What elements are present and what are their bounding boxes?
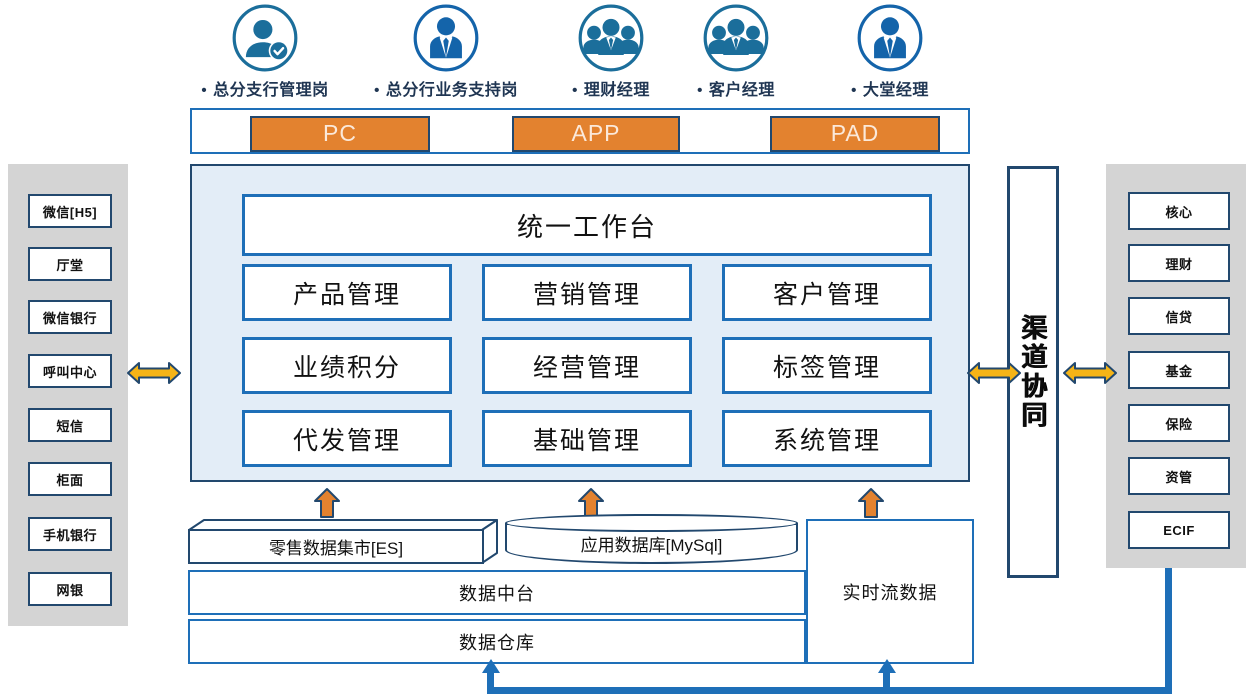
- panel-to-synergy-arrow-icon: [966, 358, 1022, 388]
- person-verified-icon: [231, 4, 299, 72]
- system-wealth[interactable]: 理财: [1128, 244, 1230, 282]
- bullet-icon: •: [374, 82, 380, 99]
- module-unified-workbench[interactable]: 统一工作台: [242, 194, 932, 256]
- module-marketing-management[interactable]: 营销管理: [482, 264, 692, 321]
- channel-sms[interactable]: 短信: [28, 408, 112, 442]
- role-item-0: •总分支行管理岗: [190, 4, 340, 100]
- bullet-icon: •: [851, 82, 857, 99]
- feedback-arrow-to-stream-icon: [876, 659, 898, 679]
- role-label-3: •客户经理: [661, 76, 811, 100]
- channel-mobile-bank[interactable]: 手机银行: [28, 517, 112, 551]
- device-button-app[interactable]: APP: [512, 116, 680, 152]
- module-tag-management[interactable]: 标签管理: [722, 337, 932, 394]
- data-mart-label: 零售数据集市[ES]: [188, 529, 484, 564]
- channel-online-bank[interactable]: 网银: [28, 572, 112, 606]
- bullet-icon: •: [201, 82, 207, 99]
- cylinder-top-ellipse: [505, 514, 798, 532]
- data-warehouse-row[interactable]: 数据仓库: [188, 619, 806, 664]
- left-bidirectional-arrow-icon: [126, 358, 182, 388]
- synergy-to-systems-arrow-icon: [1062, 358, 1118, 388]
- role-item-4: •大堂经理: [815, 4, 965, 100]
- data-midplatform-row[interactable]: 数据中台: [188, 570, 806, 615]
- module-customer-management[interactable]: 客户管理: [722, 264, 932, 321]
- core-systems-panel: 核心 理财 信贷 基金 保险 资管 ECIF: [1106, 164, 1246, 568]
- module-performance-points[interactable]: 业绩积分: [242, 337, 452, 394]
- data-to-platform-arrow-icon: [313, 487, 341, 519]
- people-group-icon: [702, 4, 770, 72]
- bullet-icon: •: [697, 82, 703, 99]
- channel-counter[interactable]: 柜面: [28, 462, 112, 496]
- realtime-stream-box[interactable]: 实时流数据: [806, 519, 974, 664]
- device-bar: PC APP PAD: [190, 108, 970, 154]
- module-product-management[interactable]: 产品管理: [242, 264, 452, 321]
- feedback-arrow-to-warehouse-icon: [480, 659, 502, 679]
- stream-to-platform-arrow-icon: [857, 487, 885, 519]
- channel-wechat-h5[interactable]: 微信[H5]: [28, 194, 112, 228]
- role-label-0: •总分支行管理岗: [190, 76, 340, 100]
- module-basic-management[interactable]: 基础管理: [482, 410, 692, 467]
- channels-panel: 微信[H5] 厅堂 微信银行 呼叫中心 短信 柜面 手机银行 网银: [8, 164, 128, 626]
- system-ecif[interactable]: ECIF: [1128, 511, 1230, 549]
- role-label-4: •大堂经理: [815, 76, 965, 100]
- system-core[interactable]: 核心: [1128, 192, 1230, 230]
- module-system-management[interactable]: 系统管理: [722, 410, 932, 467]
- app-database-cylinder[interactable]: 应用数据库[MySql]: [505, 514, 798, 564]
- module-operation-management[interactable]: 经营管理: [482, 337, 692, 394]
- channel-lobby[interactable]: 厅堂: [28, 247, 112, 281]
- businessman-icon: [856, 4, 924, 72]
- system-credit[interactable]: 信贷: [1128, 297, 1230, 335]
- feedback-line-vertical-right: [1165, 568, 1172, 690]
- channel-wechat-bank[interactable]: 微信银行: [28, 300, 112, 334]
- platform-panel: 统一工作台 产品管理 营销管理 客户管理 业绩积分 经营管理 标签管理 代发管理…: [190, 164, 970, 482]
- architecture-diagram: •总分支行管理岗 •总分行业务支持岗 •理财经理: [0, 0, 1260, 700]
- module-payroll-management[interactable]: 代发管理: [242, 410, 452, 467]
- channel-call-center[interactable]: 呼叫中心: [28, 354, 112, 388]
- bullet-icon: •: [572, 82, 578, 99]
- system-fund[interactable]: 基金: [1128, 351, 1230, 389]
- data-mart-box[interactable]: 零售数据集市[ES]: [188, 519, 498, 564]
- system-insurance[interactable]: 保险: [1128, 404, 1230, 442]
- role-item-1: •总分行业务支持岗: [371, 4, 521, 100]
- people-group-icon: [577, 4, 645, 72]
- feedback-line-horizontal: [487, 687, 1172, 694]
- role-item-3: •客户经理: [661, 4, 811, 100]
- device-button-pc[interactable]: PC: [250, 116, 430, 152]
- role-label-1: •总分行业务支持岗: [371, 76, 521, 100]
- device-button-pad[interactable]: PAD: [770, 116, 940, 152]
- system-asset-management[interactable]: 资管: [1128, 457, 1230, 495]
- businessman-icon: [412, 4, 480, 72]
